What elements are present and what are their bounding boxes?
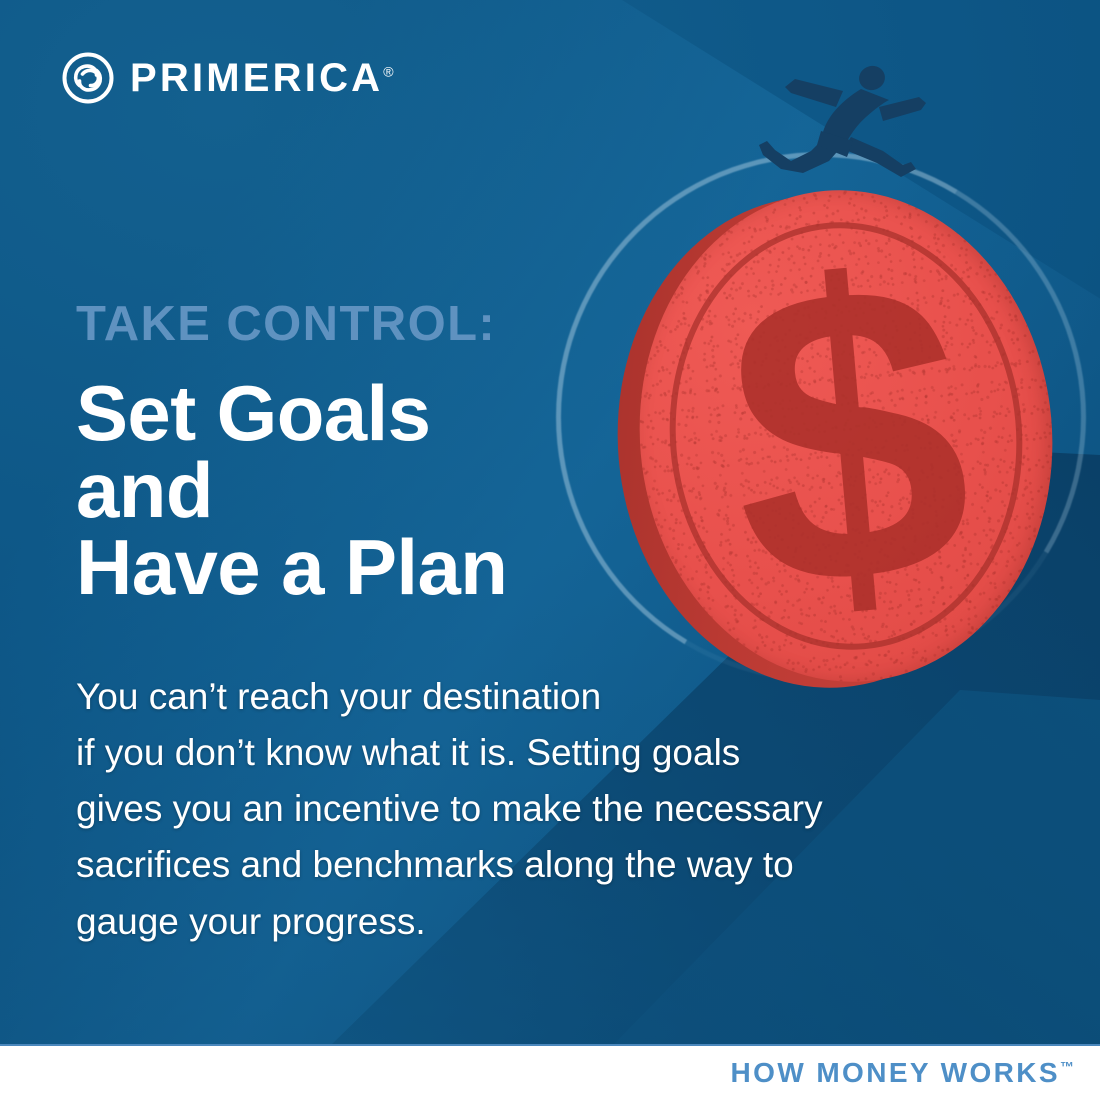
headline-line-1: Set Goals: [76, 375, 1006, 452]
running-person-silhouette-icon: [733, 45, 933, 190]
brand-name: PRIMERICA: [130, 56, 383, 100]
poster-canvas: $ PRIMERICA® TAKE CONTROL: Set Goals and…: [0, 0, 1100, 1100]
body-line-4: sacrifices and benchmarks along the way …: [76, 837, 986, 893]
registered-mark: ®: [383, 64, 393, 80]
body-line-1: You can’t reach your destination: [76, 669, 986, 725]
page-title: Set Goals and Have a Plan: [76, 375, 1006, 607]
headline-line-2: and: [76, 452, 1006, 529]
hero-content: TAKE CONTROL: Set Goals and Have a Plan …: [76, 300, 1006, 950]
primerica-knot-logo-icon: [62, 52, 114, 104]
body-line-3: gives you an incentive to make the neces…: [76, 781, 986, 837]
how-money-works-mark[interactable]: HOW MONEY WORKS™: [731, 1057, 1074, 1089]
footer-mark-text: HOW MONEY WORKS: [731, 1057, 1060, 1088]
primerica-logo[interactable]: PRIMERICA®: [62, 52, 394, 104]
body-line-5: gauge your progress.: [76, 894, 986, 950]
primerica-wordmark: PRIMERICA®: [130, 58, 394, 98]
body-paragraph: You can’t reach your destination if you …: [76, 669, 986, 950]
headline-line-3: Have a Plan: [76, 529, 1006, 606]
trademark-mark: ™: [1060, 1059, 1074, 1075]
footer-bar: HOW MONEY WORKS™: [0, 1044, 1100, 1100]
body-line-2: if you don’t know what it is. Setting go…: [76, 725, 986, 781]
eyebrow-text: TAKE CONTROL:: [76, 300, 1006, 349]
